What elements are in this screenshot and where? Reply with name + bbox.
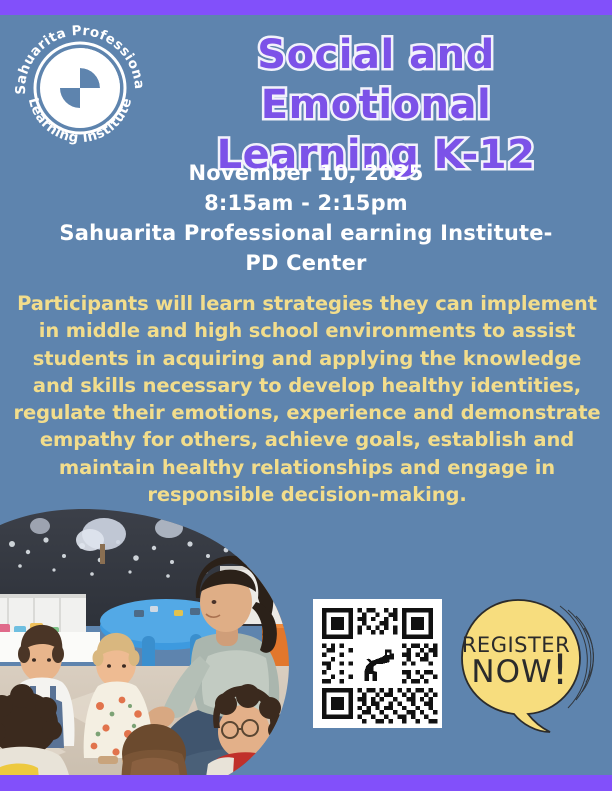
classroom-photo [0, 506, 294, 791]
event-date: November 10, 2025 [20, 158, 592, 188]
registration-qr-code[interactable] [313, 599, 442, 728]
institute-logo: Sahuarita Professional Learning Institut… [13, 22, 147, 150]
register-bubble-exclamation: ! [552, 645, 569, 694]
register-bubble-line-2: NOW [471, 654, 552, 690]
bottom-accent-bar [0, 775, 612, 791]
flyer-page: Sahuarita Professional Learning Institut… [0, 0, 612, 791]
event-location-line-1: Sahuarita Professional earning Institute… [20, 218, 592, 248]
event-location-line-2: PD Center [20, 248, 592, 278]
event-description: Participants will learn strategies they … [12, 290, 602, 508]
event-details: November 10, 2025 8:15am - 2:15pm Sahuar… [20, 158, 592, 278]
register-now-bubble[interactable]: REGISTER NOW ! [456, 596, 598, 741]
event-time: 8:15am - 2:15pm [20, 188, 592, 218]
dinosaur-icon [357, 648, 397, 684]
title-line-1: Social and Emotional [150, 30, 602, 130]
top-accent-bar [0, 0, 612, 15]
